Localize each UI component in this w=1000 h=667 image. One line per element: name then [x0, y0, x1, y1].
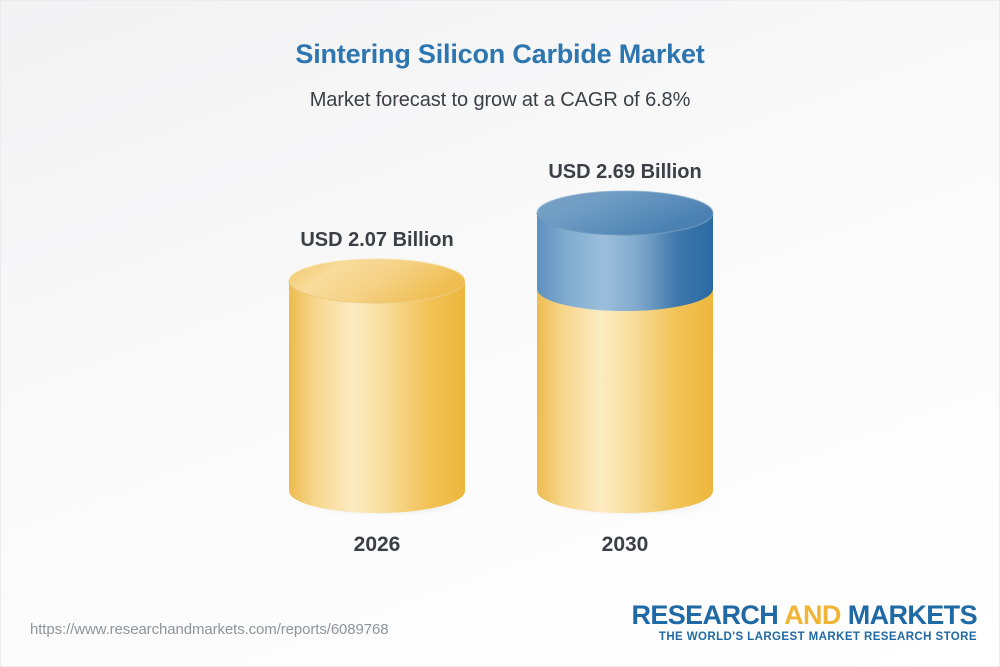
- chart-canvas: Sintering Silicon Carbide Market Market …: [0, 0, 1000, 667]
- logo-word-markets: MARKETS: [848, 600, 977, 630]
- category-label-2026: 2026: [289, 533, 465, 557]
- category-label-2030: 2030: [537, 533, 713, 557]
- logo-wordmark: RESEARCH AND MARKETS: [631, 601, 977, 629]
- source-url[interactable]: https://www.researchandmarkets.com/repor…: [30, 621, 389, 638]
- page-subtitle: Market forecast to grow at a CAGR of 6.8…: [1, 89, 999, 112]
- logo-tagline: THE WORLD'S LARGEST MARKET RESEARCH STOR…: [631, 631, 977, 643]
- cylinder-2030: [537, 191, 713, 517]
- cylinder-2026: [289, 259, 465, 517]
- value-label-2030: USD 2.69 Billion: [537, 161, 713, 184]
- logo-word-research: RESEARCH: [631, 600, 778, 630]
- research-and-markets-logo[interactable]: RESEARCH AND MARKETS THE WORLD'S LARGEST…: [631, 601, 977, 643]
- page-title: Sintering Silicon Carbide Market: [1, 39, 999, 70]
- logo-word-and: AND: [784, 600, 841, 630]
- value-label-2026: USD 2.07 Billion: [289, 229, 465, 252]
